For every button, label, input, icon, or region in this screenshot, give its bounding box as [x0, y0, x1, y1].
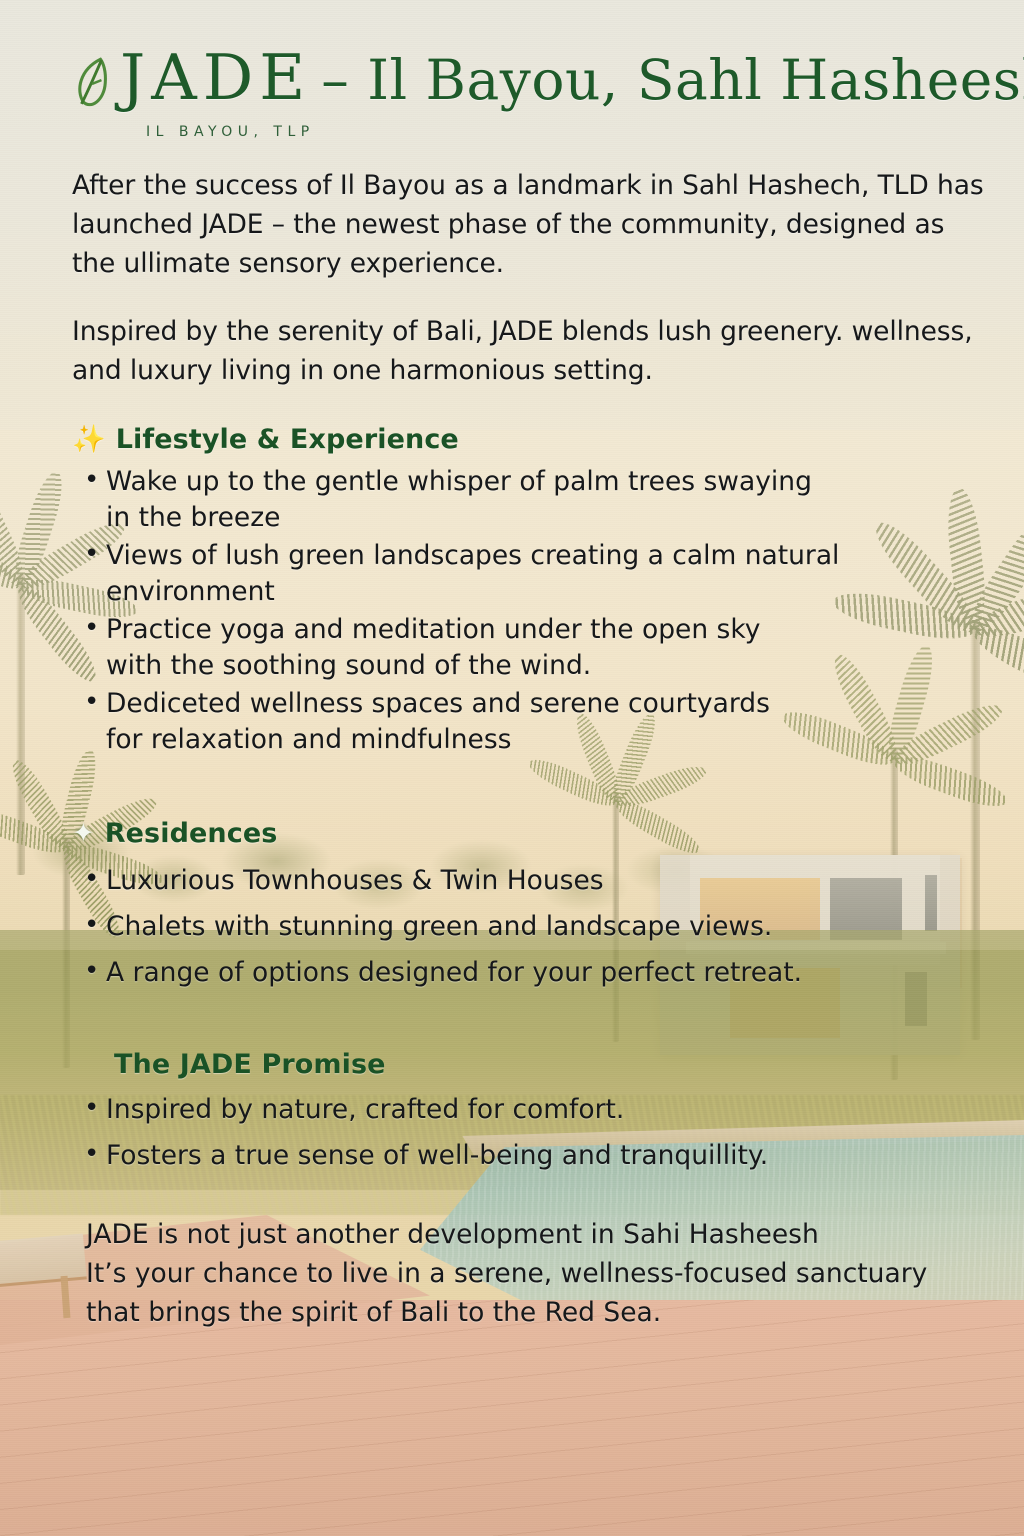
list-item: Views of lush green landscapes creating …: [72, 538, 952, 610]
section-lifestyle-bullets: Wake up to the gentle whisper of palm tr…: [72, 464, 994, 758]
poster-content: JADE – Il Bayou, Sahl Hasheesh IL BAYOU,…: [0, 0, 1024, 1536]
bullet-line-1: Wake up to the gentle whisper of palm tr…: [106, 466, 812, 497]
brand-tagline: IL BAYOU, TLP: [146, 124, 994, 140]
section-jade-promise-heading: The JADE Promise: [72, 1049, 994, 1080]
section-residences-heading: ✦ Residences: [72, 818, 994, 849]
bullet-line-1: A range of options designed for your per…: [106, 957, 802, 988]
section-jade-promise: The JADE Promise Inspired by nature, cra…: [72, 1049, 994, 1174]
bullet-line-2: in the breeze: [106, 500, 952, 536]
bullet-line-1: Practice yoga and meditation under the o…: [106, 614, 760, 645]
bullet-line-2: for relaxation and mindfulness: [106, 722, 952, 758]
brand-title-line: JADE – Il Bayou, Sahl Hasheesh: [120, 46, 1024, 109]
section-residences-title: Residences: [105, 818, 278, 849]
section-jade-promise-bullets: Inspired by nature, crafted for comfort.…: [72, 1092, 994, 1174]
list-item: Chalets with stunning green and landscap…: [72, 909, 952, 945]
section-jade-promise-title: The JADE Promise: [114, 1049, 386, 1080]
bullet-line-1: Views of lush green landscapes creating …: [106, 540, 839, 571]
section-residences-bullets: Luxurious Townhouses & Twin Houses Chale…: [72, 863, 994, 991]
section-lifestyle-title: Lifestyle & Experience: [116, 424, 459, 455]
section-residences: ✦ Residences Luxurious Townhouses & Twin…: [72, 818, 994, 991]
brand-text-block: JADE – Il Bayou, Sahl Hasheesh: [120, 46, 1024, 109]
closing-line-1: JADE is not just another development in …: [86, 1215, 994, 1254]
bullet-line-1: Dediceted wellness spaces and serene cou…: [106, 688, 770, 719]
brand-location: – Il Bayou, Sahl Hasheesh: [321, 53, 1024, 108]
bullet-line-1: Fosters a true sense of well-being and t…: [106, 1140, 768, 1171]
brand-name: JADE: [120, 46, 311, 109]
intro-paragraph-1: After the success of Il Bayou as a landm…: [72, 166, 994, 284]
sparkle-gold-icon: ✨: [72, 426, 106, 453]
brand-header: JADE – Il Bayou, Sahl Hasheesh: [72, 46, 994, 112]
intro-paragraph-2: Inspired by the serenity of Bali, JADE b…: [72, 312, 994, 390]
list-item: A range of options designed for your per…: [72, 955, 952, 991]
closing-line-2: It’s your chance to live in a serene, we…: [86, 1254, 994, 1293]
list-item: Practice yoga and meditation under the o…: [72, 612, 952, 684]
list-item: Inspired by nature, crafted for comfort.: [72, 1092, 952, 1128]
list-item: Wake up to the gentle whisper of palm tr…: [72, 464, 952, 536]
bullet-line-2: environment: [106, 574, 952, 610]
leaf-icon: [72, 54, 110, 112]
bullet-line-1: Inspired by nature, crafted for comfort.: [106, 1094, 624, 1125]
closing-line-3: that brings the spirit of Bali to the Re…: [86, 1293, 994, 1332]
bullet-line-1: Chalets with stunning green and landscap…: [106, 911, 772, 942]
bullet-line-2: with the soothing sound of the wind.: [106, 648, 952, 684]
bullet-line-1: Luxurious Townhouses & Twin Houses: [106, 865, 604, 896]
closing-block: JADE is not just another development in …: [72, 1215, 994, 1333]
sparkle-white-icon: ✦: [72, 820, 95, 847]
list-item: Luxurious Townhouses & Twin Houses: [72, 863, 952, 899]
section-lifestyle-heading: ✨ Lifestyle & Experience: [72, 424, 994, 455]
poster: JADE – Il Bayou, Sahl Hasheesh IL BAYOU,…: [0, 0, 1024, 1536]
list-item: Fosters a true sense of well-being and t…: [72, 1138, 952, 1174]
list-item: Dediceted wellness spaces and serene cou…: [72, 686, 952, 758]
section-lifestyle: ✨ Lifestyle & Experience Wake up to the …: [72, 424, 994, 758]
